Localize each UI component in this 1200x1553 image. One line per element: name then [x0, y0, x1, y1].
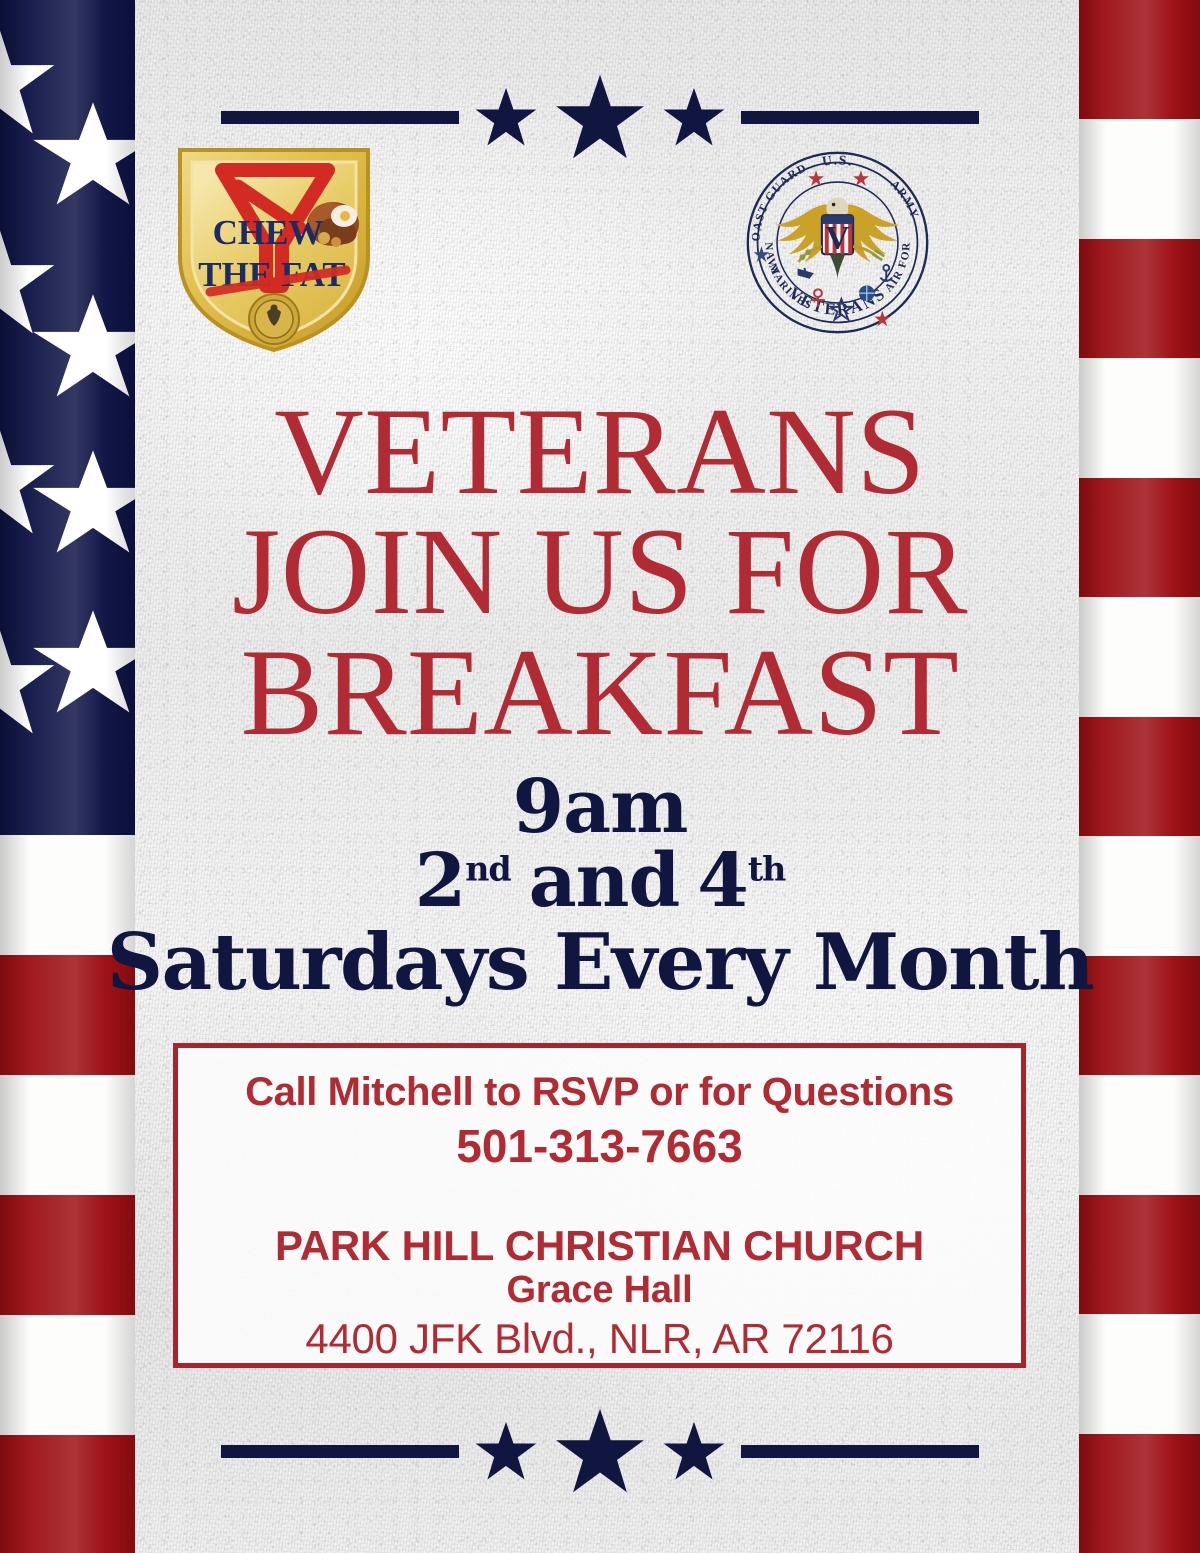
veterans-breakfast-flyer: CHEW THE FAT U.S. [0, 0, 1200, 1553]
star-icon [555, 74, 645, 160]
event-time: 9am [0, 772, 1200, 842]
star-icon [663, 1421, 725, 1481]
phone-number[interactable]: 501-313-7663 [178, 1119, 1021, 1174]
ordinal-conjunction: and [529, 842, 680, 920]
divider-rule-left [221, 111, 459, 124]
badge-line1: CHEW [213, 213, 324, 252]
headline-line-1: VETERANS [0, 392, 1200, 512]
headline-line-2: JOIN US FOR [0, 512, 1200, 632]
event-days: Saturdays Every Month [0, 923, 1200, 1003]
divider-rule-right [741, 111, 979, 124]
svg-text:U.S.: U.S. [821, 152, 854, 168]
star-icon [475, 87, 537, 147]
headline-line-3: BREAKFAST [0, 633, 1200, 753]
flag-stripe-red [1079, 1195, 1200, 1314]
flag-stripe-red [1079, 239, 1200, 358]
flag-stripe-white [1079, 1075, 1200, 1195]
page-title: VETERANS JOIN US FOR BREAKFAST [0, 392, 1200, 753]
event-schedule: 9am 2nd and 4th Saturdays Every Month [0, 772, 1200, 1002]
venue-address: 4400 JFK Blvd., NLR, AR 72116 [178, 1315, 1021, 1364]
star-icon [555, 1408, 645, 1494]
contact-info-box: Call Mitchell to RSVP or for Questions 5… [173, 1043, 1026, 1368]
canton-star [28, 292, 135, 400]
ordinal-fourth-saturday: 4th [697, 842, 785, 920]
small-seal [249, 294, 299, 344]
eagle-emblem: V [775, 198, 900, 280]
flag-stripe-white [0, 1075, 135, 1195]
chew-the-fat-logo: CHEW THE FAT [168, 136, 380, 356]
divider-rule-right [741, 1445, 979, 1458]
venue-name: PARK HILL CHRISTIAN CHURCH [178, 1222, 1021, 1269]
us-veterans-seal: U.S. COAST GUARD ARMY NAVY MARINES AIR F… [740, 125, 935, 360]
seal-center-letter: V [826, 219, 850, 256]
venue-hall: Grace Hall [178, 1269, 1021, 1313]
jet-icon [799, 268, 813, 278]
event-ordinals: 2nd and 4th [0, 842, 1200, 920]
divider-bottom [0, 1408, 1200, 1494]
divider-stars [475, 1408, 725, 1494]
divider-rule-left [221, 1445, 459, 1458]
divider-stars [475, 74, 725, 160]
globe-anchor-icon [859, 285, 875, 301]
rsvp-instruction: Call Mitchell to RSVP or for Questions [178, 1070, 1021, 1115]
star-icon [663, 87, 725, 147]
star-icon [475, 1421, 537, 1481]
ordinal-second-saturday: 2nd [415, 842, 511, 920]
flag-stripe-red [0, 1195, 135, 1315]
seal-top-text: U.S. [821, 152, 854, 168]
